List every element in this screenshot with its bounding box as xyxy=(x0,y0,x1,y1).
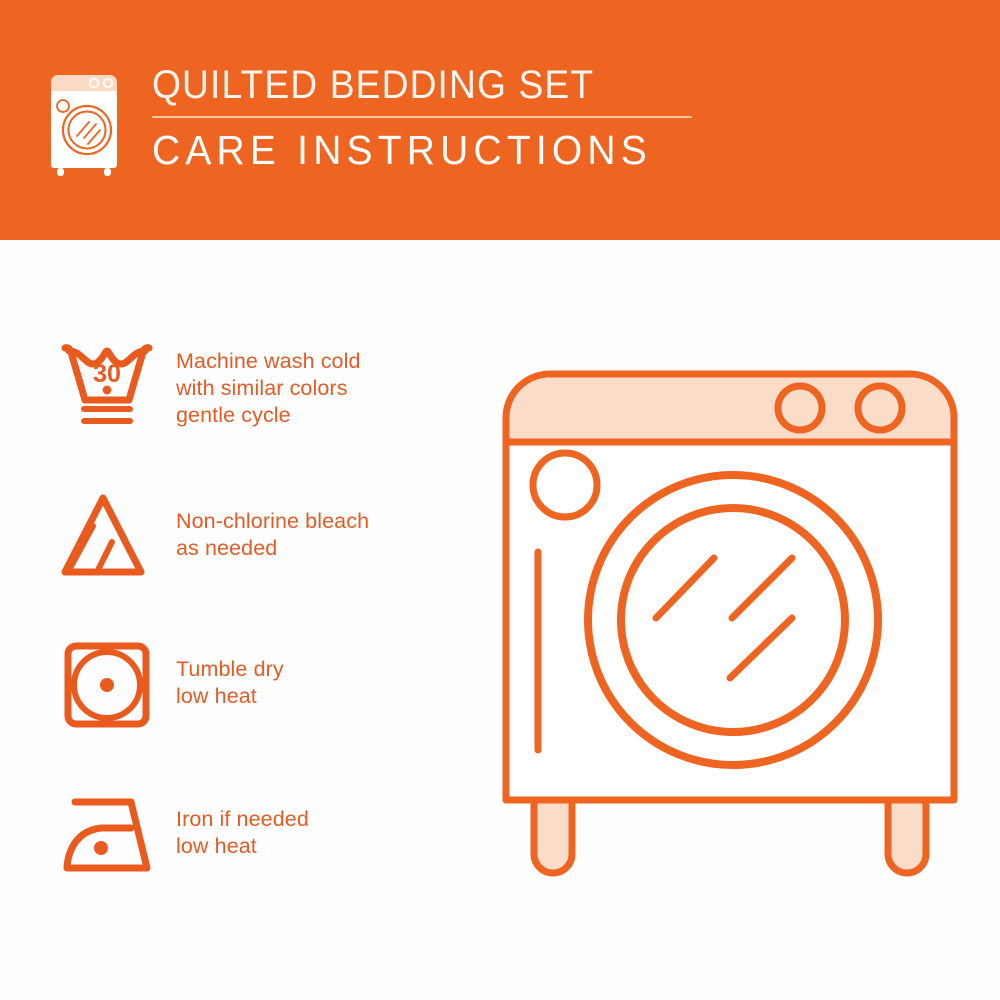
care-text-line: low heat xyxy=(176,683,284,710)
header-banner: QUILTED BEDDING SET CARE INSTRUCTIONS xyxy=(0,0,1000,240)
care-row-tumble-dry: Tumble dry low heat xyxy=(48,630,468,780)
header-title-group: QUILTED BEDDING SET CARE INSTRUCTIONS xyxy=(152,62,692,174)
machine-wash-30-gentle-icon: 30 xyxy=(48,330,166,442)
tumble-dry-low-heat-icon xyxy=(48,630,166,742)
leg-right xyxy=(888,800,926,873)
front-load-washing-machine-illustration xyxy=(480,330,980,950)
care-instructions-infographic: QUILTED BEDDING SET CARE INSTRUCTIONS 30 xyxy=(0,0,1000,1000)
care-text-tumble-dry: Tumble dry low heat xyxy=(166,630,284,710)
care-instruction-list: 30 Machine wash cold with similar colors… xyxy=(48,330,468,930)
page-subtitle: CARE INSTRUCTIONS xyxy=(152,127,665,174)
care-text-bleach: Non-chlorine bleach as needed xyxy=(166,480,369,562)
iron-low-heat-icon xyxy=(48,780,166,892)
washing-machine-icon xyxy=(42,68,134,178)
care-text-line: Iron if needed xyxy=(176,806,309,833)
page-title: QUILTED BEDDING SET xyxy=(152,62,654,108)
care-text-line: with similar colors xyxy=(176,375,361,402)
title-divider xyxy=(152,116,692,118)
wash-temperature-label: 30 xyxy=(93,360,121,388)
care-row-bleach: Non-chlorine bleach as needed xyxy=(48,480,468,630)
header-content: QUILTED BEDDING SET CARE INSTRUCTIONS xyxy=(42,62,692,178)
care-text-iron: Iron if needed low heat xyxy=(166,780,309,860)
care-row-iron: Iron if needed low heat xyxy=(48,780,468,930)
care-text-line: Tumble dry xyxy=(176,656,284,683)
non-chlorine-bleach-icon xyxy=(48,480,166,592)
care-text-line: Machine wash cold xyxy=(176,348,361,375)
care-text-line: gentle cycle xyxy=(176,402,361,429)
care-text-line: low heat xyxy=(176,833,309,860)
care-row-machine-wash: 30 Machine wash cold with similar colors… xyxy=(48,330,468,480)
care-text-line: Non-chlorine bleach xyxy=(176,508,369,535)
care-text-line: as needed xyxy=(176,535,369,562)
leg-left xyxy=(534,800,572,873)
care-text-machine-wash: Machine wash cold with similar colors ge… xyxy=(166,330,361,429)
